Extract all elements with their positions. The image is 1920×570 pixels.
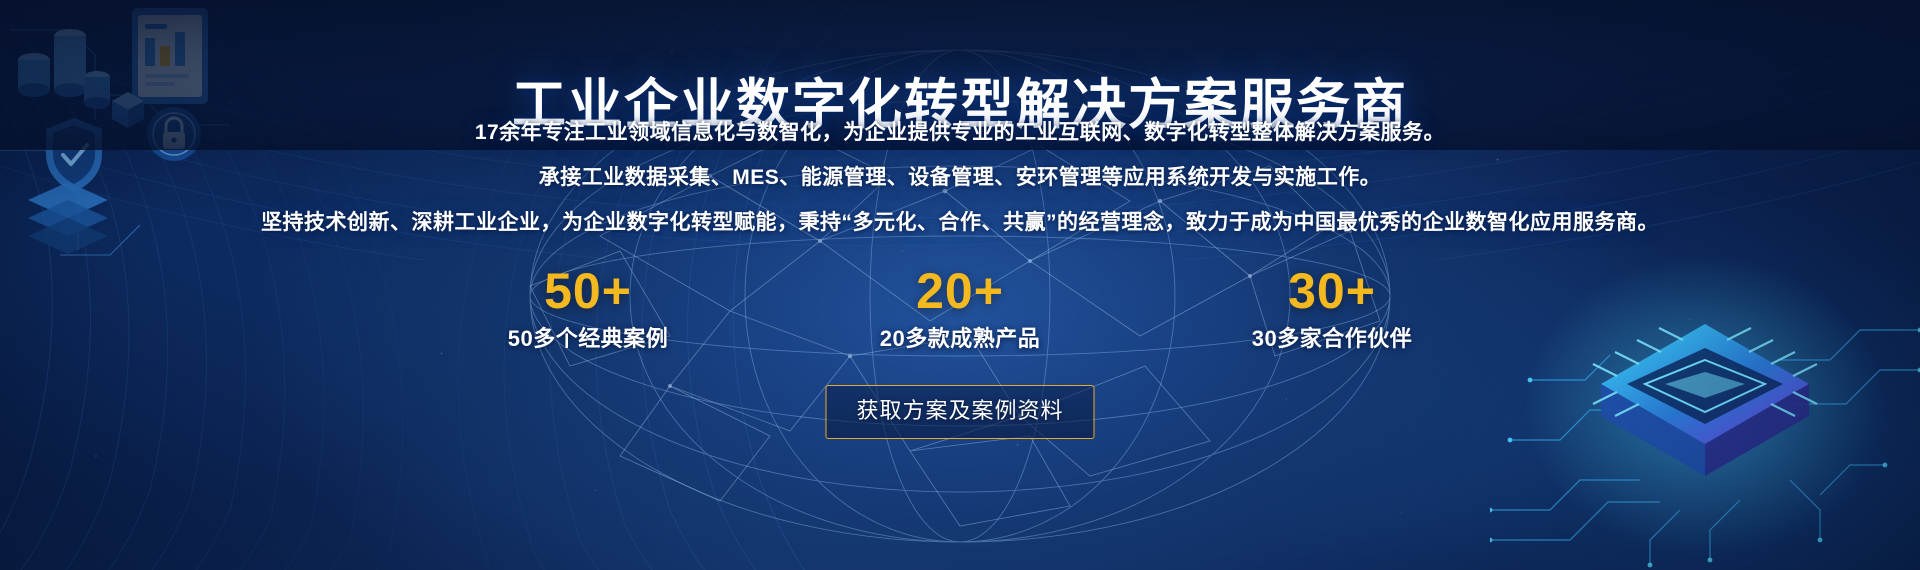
stat-label: 20多款成熟产品 bbox=[860, 324, 1060, 354]
subtitle-line-1: 17余年专注工业领域信息化与数智化，为企业提供专业的工业互联网、数字化转型整体解… bbox=[0, 118, 1920, 148]
stat-label: 50多个经典案例 bbox=[488, 324, 688, 354]
stat-number: 20+ bbox=[860, 262, 1060, 320]
stat-item: 30+ 30多家合作伙伴 bbox=[1232, 262, 1432, 354]
get-solution-button[interactable]: 获取方案及案例资料 bbox=[825, 385, 1094, 439]
stat-item: 50+ 50多个经典案例 bbox=[488, 262, 688, 354]
cta-container: 获取方案及案例资料 bbox=[825, 385, 1094, 439]
stat-number: 30+ bbox=[1232, 262, 1432, 320]
stats-group: 50+ 50多个经典案例 20+ 20多款成熟产品 30+ 30多家合作伙伴 bbox=[488, 262, 1432, 354]
stat-item: 20+ 20多款成熟产品 bbox=[860, 262, 1060, 354]
stat-label: 30多家合作伙伴 bbox=[1232, 324, 1432, 354]
subtitle-line-3: 坚持技术创新、深耕工业企业，为企业数字化转型赋能，秉持“多元化、合作、共赢”的经… bbox=[0, 208, 1920, 238]
stat-number: 50+ bbox=[488, 262, 688, 320]
hero-banner: 工业企业数字化转型解决方案服务商 17余年专注工业领域信息化与数智化，为企业提供… bbox=[0, 0, 1920, 570]
banner-content: 工业企业数字化转型解决方案服务商 17余年专注工业领域信息化与数智化，为企业提供… bbox=[0, 0, 1920, 570]
subtitle-line-2: 承接工业数据采集、MES、能源管理、设备管理、安环管理等应用系统开发与实施工作。 bbox=[0, 163, 1920, 193]
